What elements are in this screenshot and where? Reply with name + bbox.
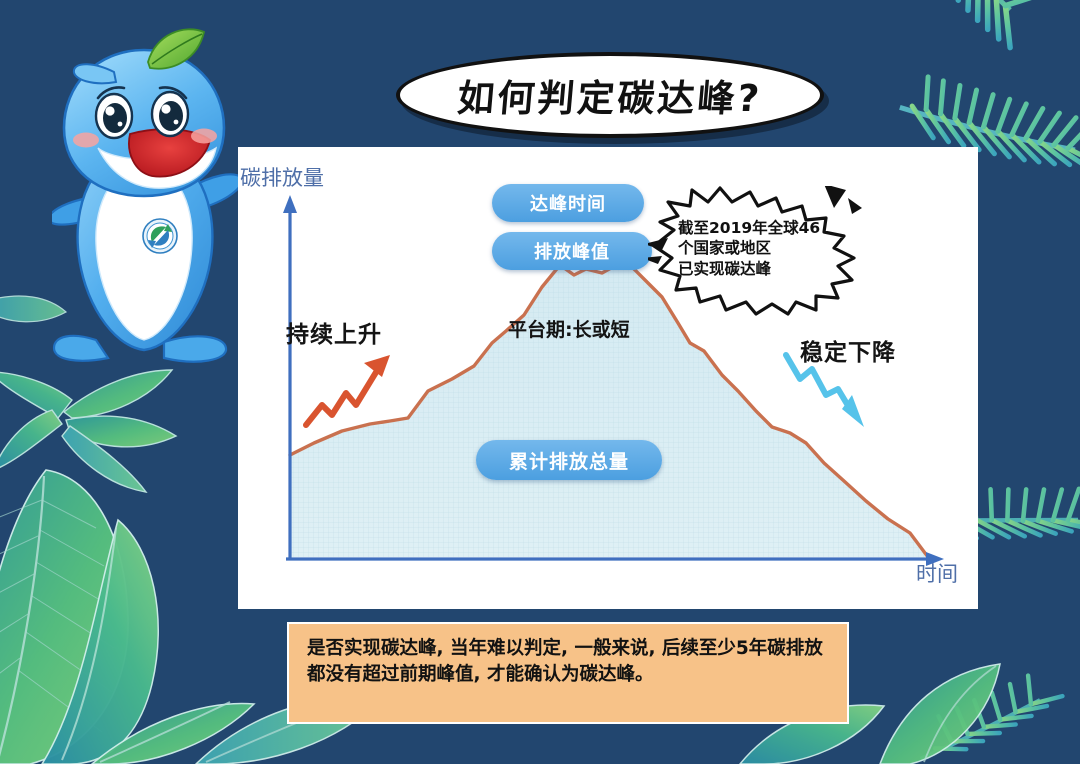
badge-peak-value[interactable]: 排放峰值 [492, 232, 652, 270]
badge-cumulative-emissions[interactable]: 累计排放总量 [476, 440, 662, 480]
callout-text: 截至2019年全球46 个国家或地区 已实现碳达峰 [678, 218, 858, 279]
callout-line-3: 已实现碳达峰 [678, 260, 771, 278]
callout-line-2: 个国家或地区 [678, 239, 771, 257]
leaf-sprig-left-top [0, 370, 176, 492]
banana-leaf-mid-left [42, 520, 158, 764]
annotation-declining: 稳定下降 [800, 333, 896, 367]
rising-arrow-icon [306, 355, 390, 425]
callout-line-1: 截至2019年全球46 [678, 219, 820, 237]
emblem-badge [143, 219, 177, 253]
caption-text: 是否实现碳达峰, 当年难以判定, 一般来说, 后续至少5年碳排放都没有超过前期峰… [307, 636, 831, 689]
caption-box: 是否实现碳达峰, 当年难以判定, 一般来说, 后续至少5年碳排放都没有超过前期峰… [287, 622, 849, 724]
starburst-callout: 截至2019年全球46 个国家或地区 已实现碳达峰 [648, 186, 878, 316]
mascot-blush-right [191, 129, 217, 144]
leaf-icon [148, 29, 204, 68]
mascot-blush-left [73, 133, 99, 148]
y-axis-label: 碳排放量 [240, 162, 324, 192]
dolphin-mascot [52, 28, 242, 368]
infographic-root: 如何判定碳达峰? [0, 0, 1080, 764]
x-axis-label: 时间 [916, 558, 958, 588]
page-title: 如何判定碳达峰? [392, 52, 828, 138]
banana-leaf-lower-left [92, 702, 254, 764]
annotation-rising: 持续上升 [286, 315, 382, 349]
title-bubble: 如何判定碳达峰? [396, 52, 824, 138]
annotation-plateau: 平台期:长或短 [508, 315, 630, 342]
badge-peak-time[interactable]: 达峰时间 [492, 184, 644, 222]
banana-leaf-large-left [0, 470, 128, 764]
